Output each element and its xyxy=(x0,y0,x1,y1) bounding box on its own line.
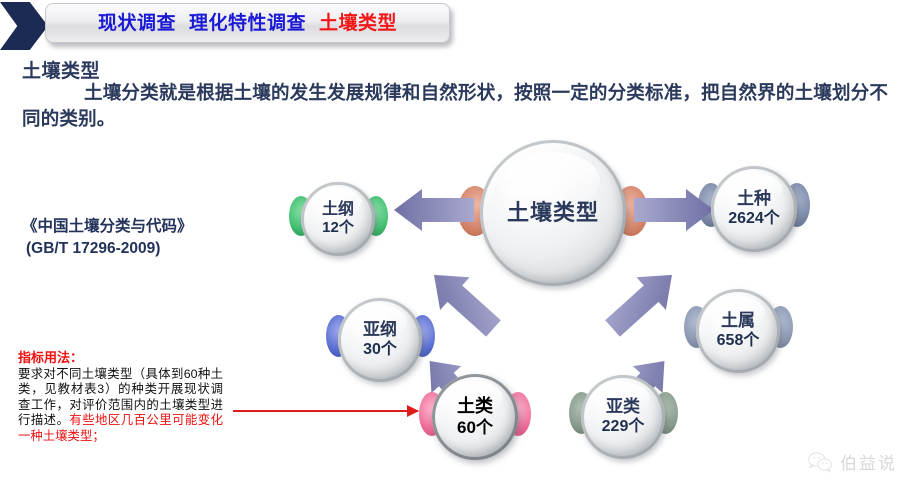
slide-canvas: 现状调查 理化特性调查 土壤类型 土壤类型 土壤分类就是根据土壤的发生发展规律和… xyxy=(0,0,915,488)
arrow-to-tushu xyxy=(600,262,686,340)
breadcrumb-item-3[interactable]: 土壤类型 xyxy=(319,14,397,33)
chevron-right-icon xyxy=(0,2,48,50)
node-yalei-count: 229个 xyxy=(602,419,645,436)
center-sphere[interactable]: 土壤类型 xyxy=(480,140,626,286)
watermark-text: 伯益说 xyxy=(840,449,897,474)
node-tulei-label: 土类 xyxy=(457,397,493,415)
sphere-rim xyxy=(711,166,797,252)
sphere-rim xyxy=(432,374,518,460)
node-tugang-count: 12个 xyxy=(322,220,354,236)
node-tugang-sphere[interactable]: 土纲 12个 xyxy=(301,182,375,256)
wechat-icon xyxy=(807,451,833,473)
arrow-to-tuzhong xyxy=(634,188,716,232)
red-arrow-icon xyxy=(233,410,418,412)
annotation-block: 指标用法： 要求对不同土壤类型（具体到60种土类，见教材表3）的种类开展现状调查… xyxy=(18,350,223,444)
node-yagang-count: 30个 xyxy=(363,342,397,359)
annotation-body: 要求对不同土壤类型（具体到60种土类，见教材表3）的种类开展现状调查工作，对评价… xyxy=(18,367,223,444)
node-tuzhong-count: 2624个 xyxy=(728,211,780,228)
node-tushu-count: 658个 xyxy=(717,333,760,350)
breadcrumb-item-1[interactable]: 现状调查 xyxy=(98,14,176,33)
annotation-heading: 指标用法： xyxy=(18,350,223,366)
sphere-rim xyxy=(338,298,422,382)
citation-line-2: (GB/T 17296-2009) xyxy=(22,238,272,260)
node-tuzhong-sphere[interactable]: 土种 2624个 xyxy=(711,166,797,252)
node-tushu-label: 土属 xyxy=(721,312,755,329)
node-yalei-sphere[interactable]: 亚类 229个 xyxy=(581,375,665,459)
node-yagang-label: 亚纲 xyxy=(363,321,397,338)
node-yagang-sphere[interactable]: 亚纲 30个 xyxy=(338,298,422,382)
arrow-to-yagang xyxy=(420,262,506,340)
citation: 《中国土壤分类与代码》 (GB/T 17296-2009) xyxy=(22,216,272,260)
node-tushu-sphere[interactable]: 土属 658个 xyxy=(696,289,780,373)
breadcrumb-item-2[interactable]: 理化特性调查 xyxy=(189,14,306,33)
watermark: 伯益说 xyxy=(807,449,897,474)
node-tulei-sphere[interactable]: 土类 60个 xyxy=(432,374,518,460)
citation-line-1: 《中国土壤分类与代码》 xyxy=(22,216,272,238)
sphere-rim xyxy=(581,375,665,459)
node-yalei-label: 亚类 xyxy=(606,398,640,415)
sphere-rim xyxy=(696,289,780,373)
node-tuzhong-label: 土种 xyxy=(737,190,771,207)
intro-paragraph: 土壤分类就是根据土壤的发生发展规律和自然形状，按照一定的分类标准，把自然界的土壤… xyxy=(22,80,900,132)
node-tulei-count: 60个 xyxy=(457,419,493,437)
arrow-to-tugang xyxy=(392,188,474,232)
page-title: 土壤类型 xyxy=(22,56,100,83)
node-tugang-label: 土纲 xyxy=(322,202,354,218)
center-label: 土壤类型 xyxy=(507,202,599,224)
breadcrumb: 现状调查 理化特性调查 土壤类型 xyxy=(45,3,450,43)
